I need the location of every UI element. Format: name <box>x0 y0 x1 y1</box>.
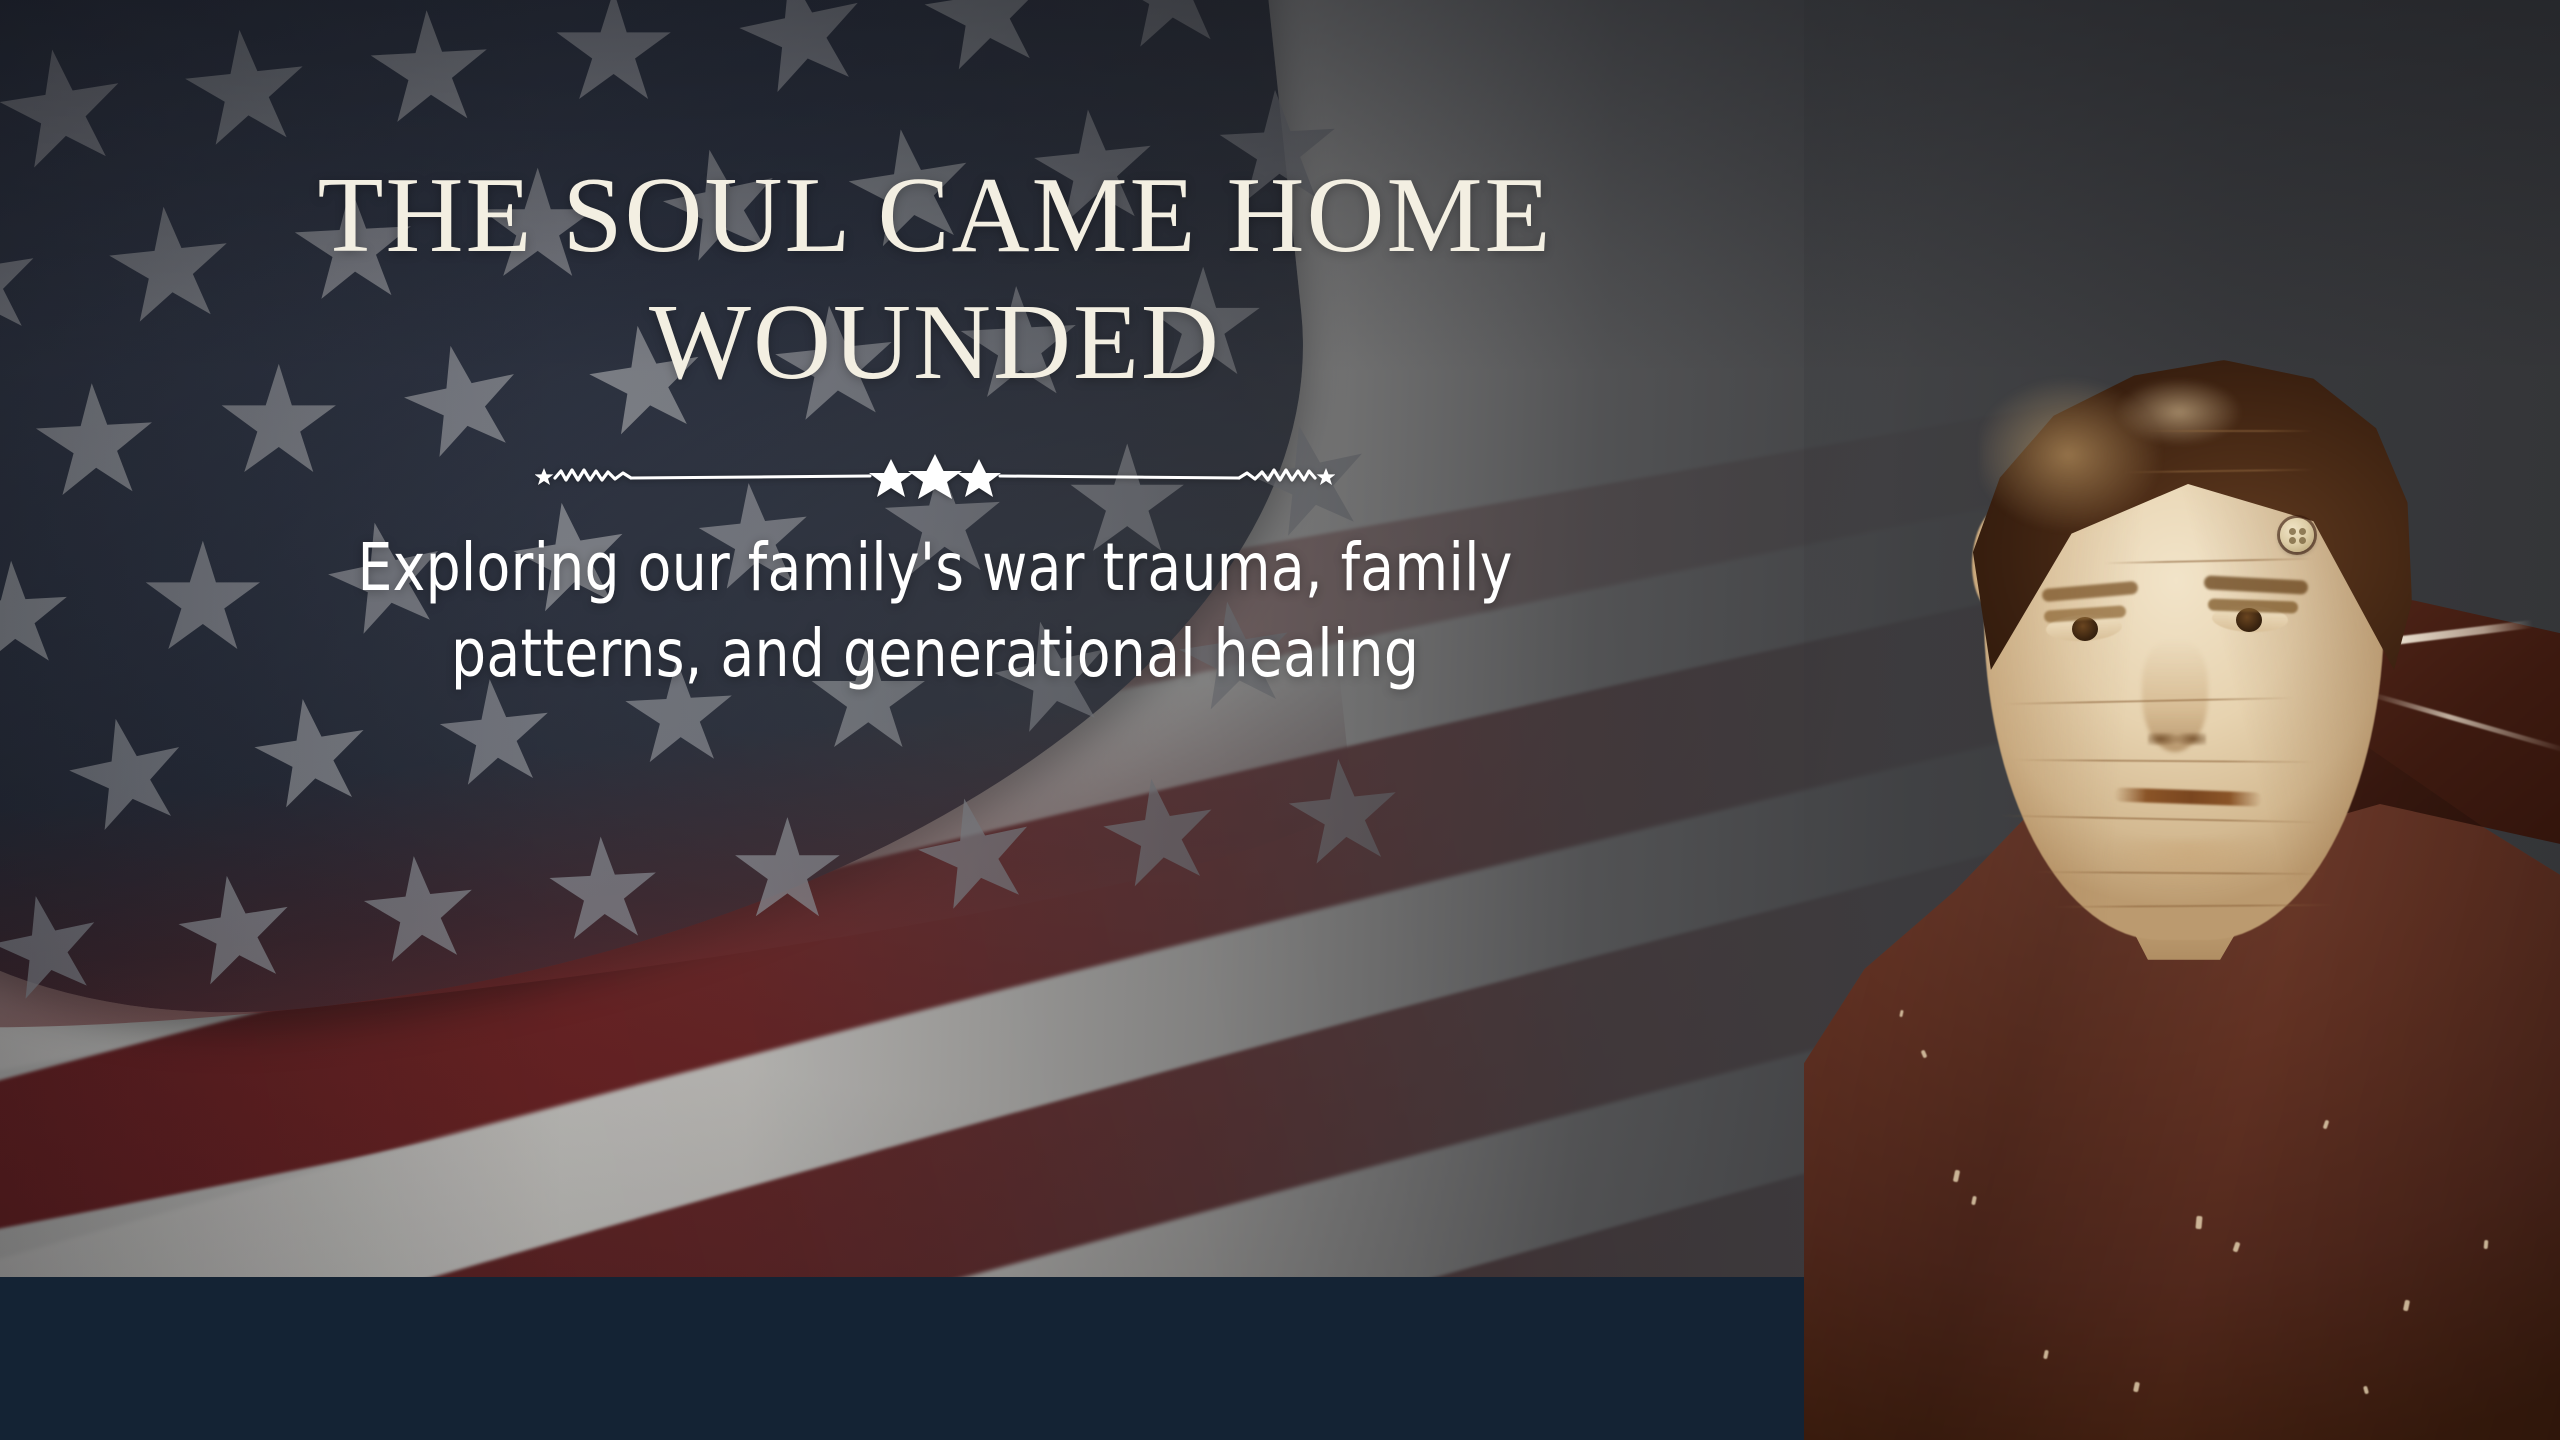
page-title: THE SOUL CAME HOME WOUNDED <box>318 152 1553 407</box>
title-slide: THE SOUL CAME HOME WOUNDED <box>0 0 2560 1440</box>
star-divider-ornament <box>535 453 1335 499</box>
divider-star-small-right <box>1317 468 1335 485</box>
bottom-accent-bar <box>0 1277 2560 1440</box>
divider-rule-left <box>631 476 870 478</box>
slide-content: THE SOUL CAME HOME WOUNDED <box>0 0 1870 1277</box>
title-line-2: WOUNDED <box>649 283 1221 402</box>
divider-star-medium-left <box>869 459 913 497</box>
page-subtitle: Exploring our family's war trauma, famil… <box>357 525 1512 697</box>
subtitle-line-2: patterns, and generational healing <box>451 615 1419 692</box>
divider-squiggle-right <box>1239 470 1315 480</box>
divider-squiggle-left <box>555 470 631 480</box>
divider-star-large-center <box>908 454 962 499</box>
divider-star-small-left <box>535 468 553 485</box>
subtitle-line-1: Exploring our family's war trauma, famil… <box>357 529 1512 606</box>
divider-rule-right <box>1000 476 1239 478</box>
title-line-1: THE SOUL CAME HOME <box>318 156 1553 275</box>
divider-star-medium-right <box>957 459 1001 497</box>
